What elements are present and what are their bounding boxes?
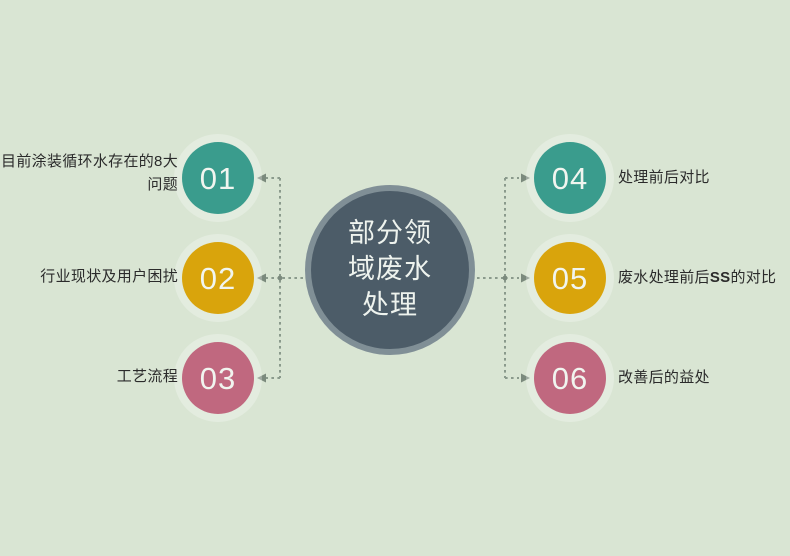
node-label-05: 废水处理前后SS的对比 [618, 266, 790, 289]
node-label-05-prefix: 废水处理前后 [618, 269, 710, 286]
node-number-03: 03 [200, 363, 236, 394]
node-circle-03[interactable]: 03 [182, 342, 254, 414]
node-circle-01[interactable]: 01 [182, 142, 254, 214]
node-label-06: 改善后的益处 [618, 366, 790, 389]
node-circle-06[interactable]: 06 [534, 342, 606, 414]
node-number-04: 04 [552, 163, 588, 194]
node-circle-05[interactable]: 05 [534, 242, 606, 314]
infographic-canvas: 部分领 域废水 处理 01 02 03 04 05 06 目前涂装循环水存在的8… [0, 0, 790, 556]
node-label-02: 行业现状及用户困扰 [0, 265, 178, 288]
node-number-05: 05 [552, 263, 588, 294]
center-hub[interactable]: 部分领 域废水 处理 [305, 185, 475, 355]
arrowhead-03 [257, 374, 266, 383]
node-number-06: 06 [552, 363, 588, 394]
center-hub-title: 部分领 域废水 处理 [348, 216, 432, 324]
node-label-01: 目前涂装循环水存在的8大问题 [0, 150, 178, 197]
arrowhead-02 [257, 274, 266, 283]
center-hub-inner: 部分领 域废水 处理 [311, 191, 469, 349]
node-label-03: 工艺流程 [0, 365, 178, 388]
node-circle-02[interactable]: 02 [182, 242, 254, 314]
left-junction-dot [278, 276, 283, 281]
arrowhead-06 [521, 374, 530, 383]
arrowhead-05 [521, 274, 530, 283]
node-circle-04[interactable]: 04 [534, 142, 606, 214]
node-label-05-emphasis: SS [710, 269, 731, 286]
right-junction-dot [503, 276, 508, 281]
node-number-02: 02 [200, 263, 236, 294]
arrowhead-01 [257, 174, 266, 183]
node-label-04: 处理前后对比 [618, 166, 790, 189]
node-number-01: 01 [200, 163, 236, 194]
node-label-05-suffix: 的对比 [730, 269, 776, 286]
arrowhead-04 [521, 174, 530, 183]
